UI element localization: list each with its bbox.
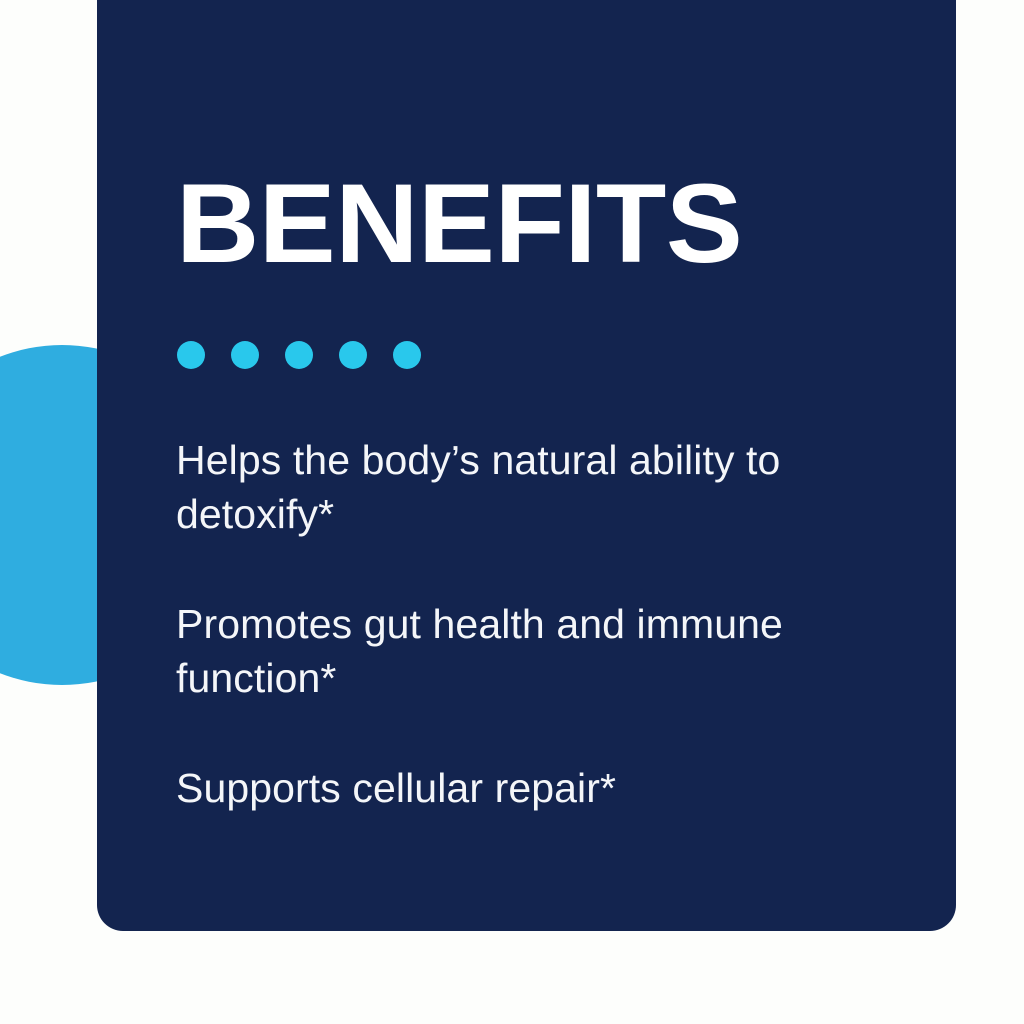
list-item: Supports cellular repair* xyxy=(176,761,856,815)
list-item: Promotes gut health and immune function* xyxy=(176,597,856,705)
divider-dot-icon xyxy=(231,341,259,369)
benefits-card-content: BENEFITS Helps the body’s natural abilit… xyxy=(176,0,916,931)
page-title: BENEFITS xyxy=(176,168,742,280)
divider-dot-icon xyxy=(339,341,367,369)
benefits-graphic: BENEFITS Helps the body’s natural abilit… xyxy=(0,0,1024,1024)
divider-dot-icon xyxy=(177,341,205,369)
divider-dot-icon xyxy=(285,341,313,369)
list-item: Helps the body’s natural ability to deto… xyxy=(176,433,856,541)
dot-divider xyxy=(177,341,421,369)
benefits-card: BENEFITS Helps the body’s natural abilit… xyxy=(97,0,956,931)
benefits-list: Helps the body’s natural ability to deto… xyxy=(176,433,856,815)
divider-dot-icon xyxy=(393,341,421,369)
